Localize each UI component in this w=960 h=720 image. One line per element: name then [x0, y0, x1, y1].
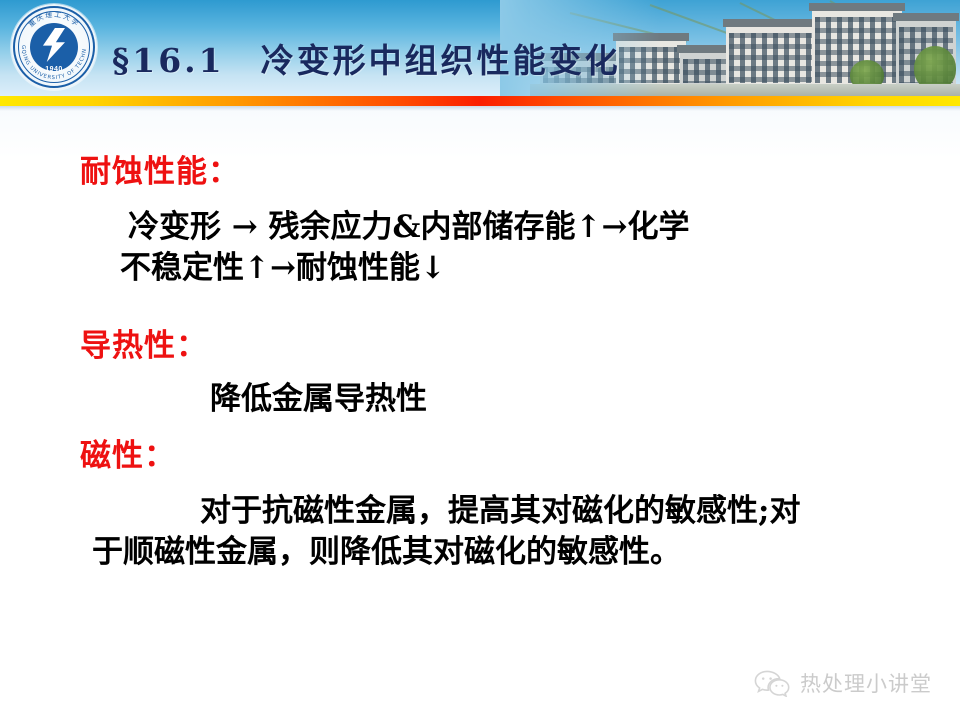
section-line: 降低金属导热性: [210, 379, 960, 420]
building-roof: [809, 3, 905, 11]
section-heading: 磁性：: [80, 430, 960, 475]
section-line: 对于抗磁性金属，提高其对磁化的敏感性;对: [200, 491, 960, 532]
section-heading: 耐蚀性能：: [80, 146, 960, 191]
section-corrosion-resistance: 耐蚀性能： 冷变形 → 残余应力&内部储存能↑→化学 不稳定性↑→耐蚀性能↓: [0, 146, 960, 289]
watermark-label: 热处理小讲堂: [800, 668, 932, 698]
building: [726, 24, 822, 86]
building-roof: [893, 13, 959, 21]
section-thermal-conductivity: 导热性： 降低金属导热性: [0, 320, 960, 420]
building-roof: [723, 19, 825, 27]
header-gradient-rule: [0, 96, 960, 106]
wechat-icon: [753, 669, 791, 697]
seal-founding-year: 1940: [11, 66, 97, 73]
section-line: 冷变形 → 残余应力&内部储存能↑→化学: [128, 207, 960, 248]
section-heading: 导热性：: [80, 320, 960, 365]
university-seal-logo: CHONGQING UNIVERSITY OF TECHNOLOGY 重庆理工大…: [11, 4, 97, 90]
building-windows: [683, 59, 731, 83]
slide-content: 耐蚀性能： 冷变形 → 残余应力&内部储存能↑→化学 不稳定性↑→耐蚀性能↓ 导…: [0, 112, 960, 720]
section-line: 于顺磁性金属，则降低其对磁化的敏感性。: [92, 532, 960, 573]
slide-header-banner: CHONGQING UNIVERSITY OF TECHNOLOGY 重庆理工大…: [0, 0, 960, 96]
presentation-slide: CHONGQING UNIVERSITY OF TECHNOLOGY 重庆理工大…: [0, 0, 960, 720]
building-windows: [729, 33, 819, 83]
section-magnetism: 磁性： 对于抗磁性金属，提高其对磁化的敏感性;对 于顺磁性金属，则降低其对磁化的…: [0, 430, 960, 573]
header-rule-shadow: [0, 106, 960, 111]
section-line: 不稳定性↑→耐蚀性能↓: [120, 248, 960, 289]
slide-title: §16.1 冷变形中组织性能变化: [112, 34, 621, 82]
seal-emblem-disc: [30, 23, 78, 71]
channel-watermark: 热处理小讲堂: [753, 668, 932, 698]
seal-swoosh-mark: [41, 28, 65, 62]
